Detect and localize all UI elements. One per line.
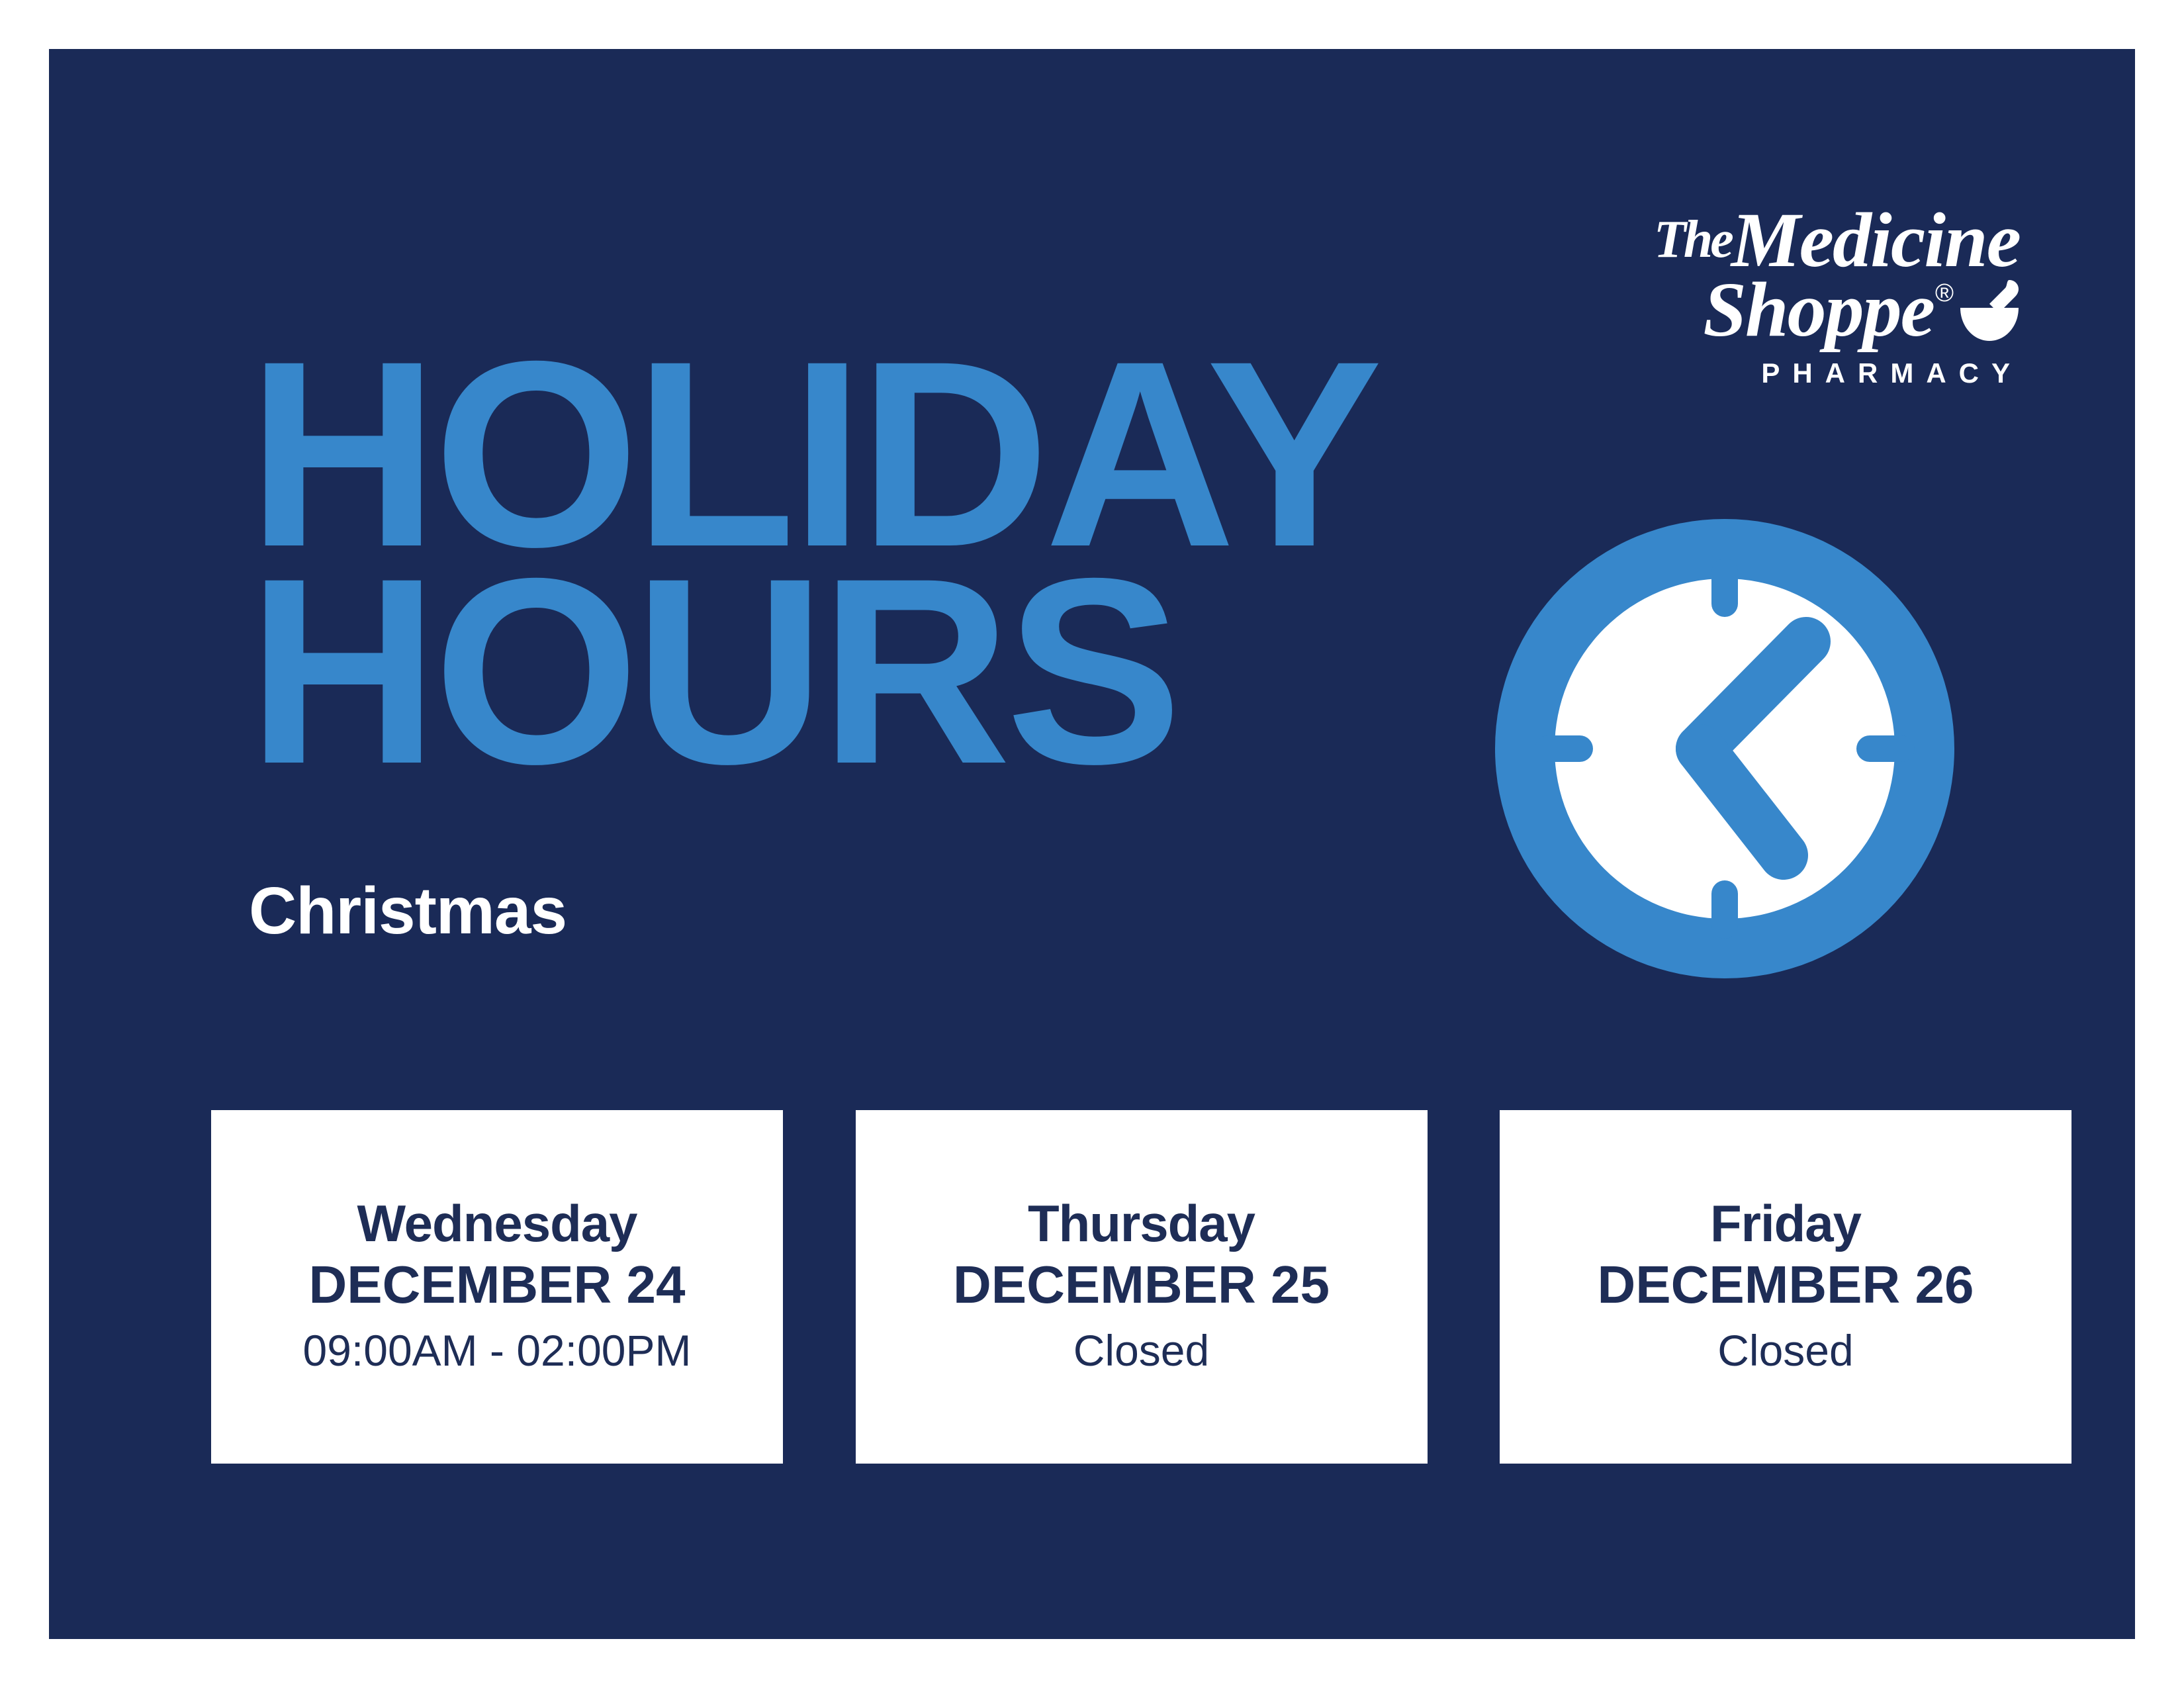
card-hours-label: Closed	[1073, 1316, 1209, 1386]
card-day-label: Friday	[1710, 1193, 1861, 1254]
holiday-name-subtitle: Christmas	[249, 878, 567, 944]
card-date-label: DECEMBER 25	[953, 1254, 1330, 1316]
card-date-label: DECEMBER 24	[308, 1254, 685, 1316]
hours-card: Wednesday DECEMBER 24 09:00AM - 02:00PM	[211, 1110, 783, 1464]
medicine-shoppe-logo: TheMedicine Shoppe® PHARMACY	[1572, 205, 2023, 389]
card-hours-label: Closed	[1717, 1316, 1853, 1386]
clock-icon	[1495, 519, 1954, 978]
holiday-hours-poster: TheMedicine Shoppe® PHARMACY HOLIDAY HOU…	[49, 49, 2135, 1639]
card-day-label: Wednesday	[357, 1193, 637, 1254]
card-hours-label: 09:00AM - 02:00PM	[303, 1316, 692, 1386]
mortar-and-pestle-icon	[1958, 276, 2021, 347]
page-title: HOLIDAY HOURS	[248, 346, 1505, 780]
logo-tagline-pharmacy: PHARMACY	[1572, 357, 2023, 389]
hours-card: Friday DECEMBER 26 Closed	[1500, 1110, 2071, 1464]
registered-trademark-icon: ®	[1935, 279, 1954, 307]
logo-line-shoppe: Shoppe®	[1572, 273, 2023, 347]
holiday-hours-cards: Wednesday DECEMBER 24 09:00AM - 02:00PM …	[211, 1110, 2071, 1464]
card-date-label: DECEMBER 26	[1597, 1254, 1974, 1316]
hours-card: Thursday DECEMBER 25 Closed	[856, 1110, 1428, 1464]
card-day-label: Thursday	[1028, 1193, 1255, 1254]
logo-word-the: The	[1654, 211, 1731, 269]
logo-word-shoppe: Shoppe	[1703, 266, 1934, 353]
